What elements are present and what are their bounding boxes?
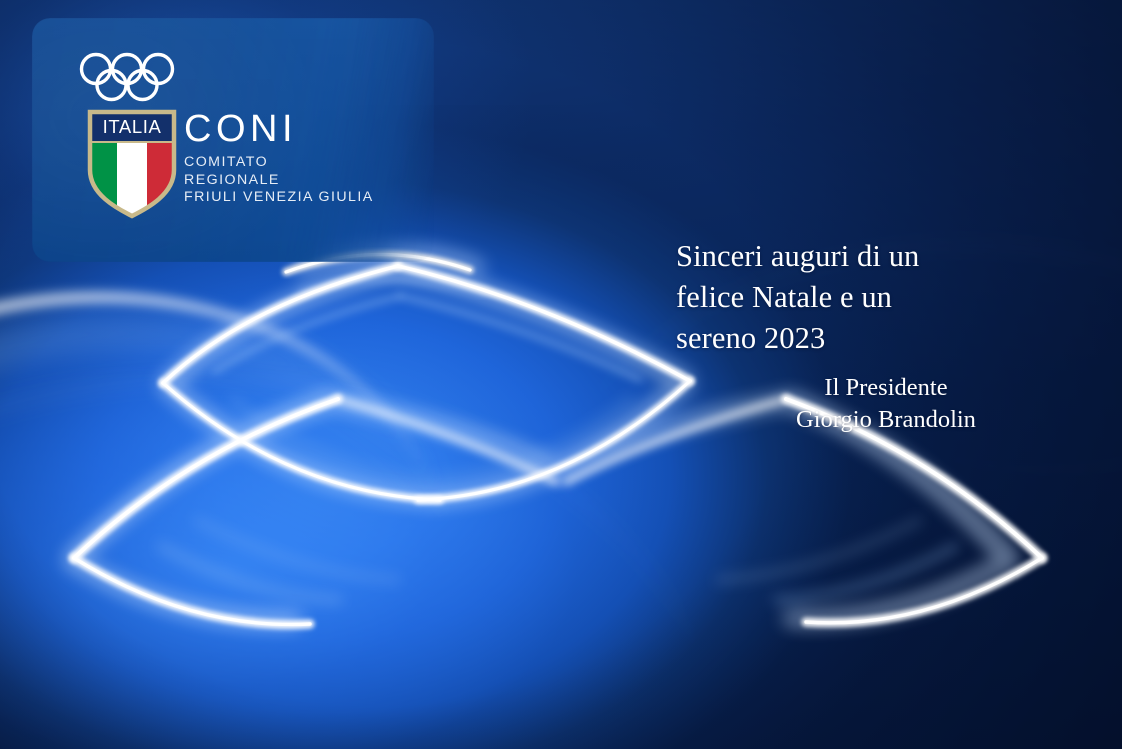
greeting-line-2: felice Natale e un — [676, 277, 1076, 318]
coni-subtitle-line-1: COMITATO — [184, 154, 444, 172]
coni-wordmark: CONI COMITATO REGIONALE FRIULI VENEZIA G… — [184, 109, 444, 207]
olympic-rings-icon — [78, 52, 186, 104]
signature-block: Il Presidente Giorgio Brandolin — [690, 372, 1082, 436]
greeting-line-1: Sinceri auguri di un — [676, 236, 1076, 277]
coni-wordmark-primary: CONI — [184, 109, 444, 149]
shield-band-label: ITALIA — [103, 116, 162, 137]
signature-role: Il Presidente — [690, 372, 1082, 404]
greeting-message: Sinceri auguri di un felice Natale e un … — [676, 236, 1076, 359]
greeting-line-3: sereno 2023 — [676, 318, 1076, 359]
greeting-card: ITALIA CONI COMITATO REGIONALE FRIULI VE… — [0, 0, 1122, 749]
coni-subtitle-line-2: REGIONALE — [184, 172, 444, 190]
signature-name: Giorgio Brandolin — [690, 404, 1082, 436]
coni-wordmark-subtitle: COMITATO REGIONALE FRIULI VENEZIA GIULIA — [184, 154, 444, 207]
coni-logo: ITALIA CONI COMITATO REGIONALE FRIULI VE… — [74, 52, 394, 222]
italia-shield-icon: ITALIA — [86, 108, 178, 220]
coni-subtitle-line-3: FRIULI VENEZIA GIULIA — [184, 189, 444, 207]
